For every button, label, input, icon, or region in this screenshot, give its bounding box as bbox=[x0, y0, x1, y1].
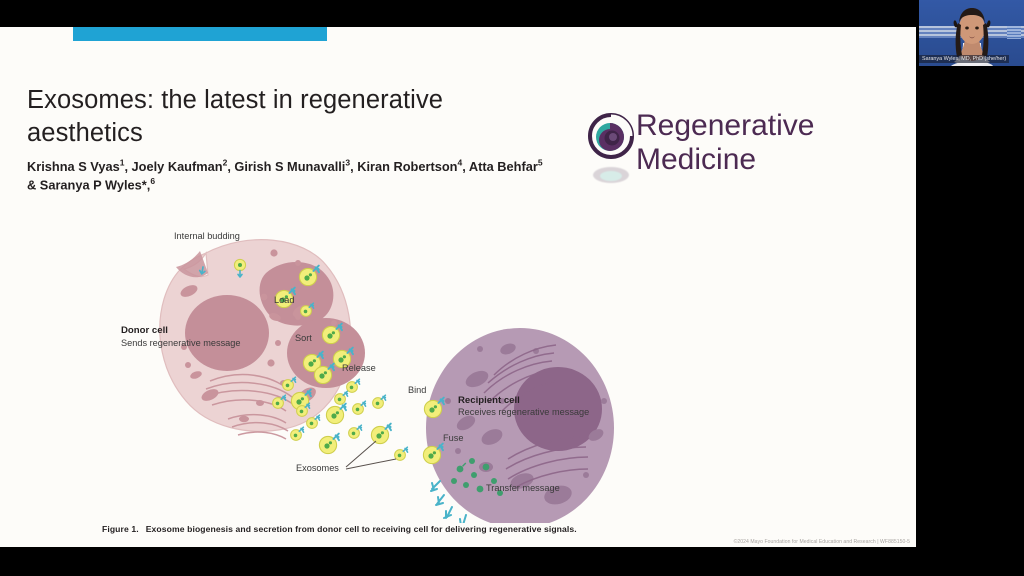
exosome-leader-lines bbox=[346, 441, 396, 469]
label-transfer-message: Transfer message bbox=[486, 483, 560, 493]
label-recipient-cell-sub: Receives regenerative message bbox=[458, 407, 589, 417]
label-fuse: Fuse bbox=[443, 433, 463, 443]
logo-line-1: Regenerative bbox=[636, 109, 814, 143]
figure-diagram: Internal budding Load Sort Donor cell Se… bbox=[88, 223, 648, 523]
presentation-slide: Exosomes: the latest in regenerative aes… bbox=[0, 27, 916, 547]
exosome-biogenesis-svg: Internal budding Load Sort Donor cell Se… bbox=[88, 223, 648, 523]
logo-reflection bbox=[588, 157, 634, 183]
webcam-thumbnail[interactable]: Saranya Wyles, MD, PhD (she/her) bbox=[919, 0, 1024, 66]
label-donor-cell-title: Donor cell bbox=[121, 325, 168, 336]
logo-text: Regenerative Medicine bbox=[636, 109, 814, 176]
copyright-notice: ©2024 Mayo Foundation for Medical Educat… bbox=[734, 539, 910, 545]
label-exosomes: Exosomes bbox=[296, 463, 339, 473]
participant-name-label: Saranya Wyles, MD, PhD (she/her) bbox=[919, 55, 1009, 63]
spiral-logo-icon bbox=[588, 113, 634, 159]
webcam-watermark-icon bbox=[1007, 26, 1021, 39]
accent-bar bbox=[73, 27, 327, 41]
label-donor-cell-sub: Sends regenerative message bbox=[121, 338, 241, 348]
recipient-cell-group bbox=[426, 328, 614, 523]
page-title: Exosomes: the latest in regenerative aes… bbox=[27, 84, 547, 149]
label-sort: Sort bbox=[295, 333, 312, 343]
label-recipient-cell-title: Recipient cell bbox=[458, 395, 520, 406]
author-line-1: Krishna S Vyas1, Joely Kaufman2, Girish … bbox=[27, 159, 543, 174]
figure-caption: Figure 1.Exosome biogenesis and secretio… bbox=[102, 524, 577, 534]
regenerative-medicine-logo: Regenerative Medicine bbox=[588, 111, 888, 189]
label-load: Load bbox=[274, 295, 294, 305]
label-bind: Bind bbox=[408, 385, 426, 395]
author-sup: 6 bbox=[150, 176, 155, 186]
author-line-2: & Saranya P Wyles*, bbox=[27, 177, 150, 192]
label-release: Release bbox=[342, 363, 376, 373]
screen-root: Exosomes: the latest in regenerative aes… bbox=[0, 0, 1024, 576]
label-internal-budding: Internal budding bbox=[174, 231, 240, 241]
caption-lead: Figure 1. bbox=[102, 524, 139, 534]
logo-line-2: Medicine bbox=[636, 143, 814, 177]
caption-text: Exosome biogenesis and secretion from do… bbox=[146, 524, 577, 534]
author-list: Krishna S Vyas1, Joely Kaufman2, Girish … bbox=[27, 158, 557, 194]
donor-nucleus bbox=[185, 295, 269, 371]
